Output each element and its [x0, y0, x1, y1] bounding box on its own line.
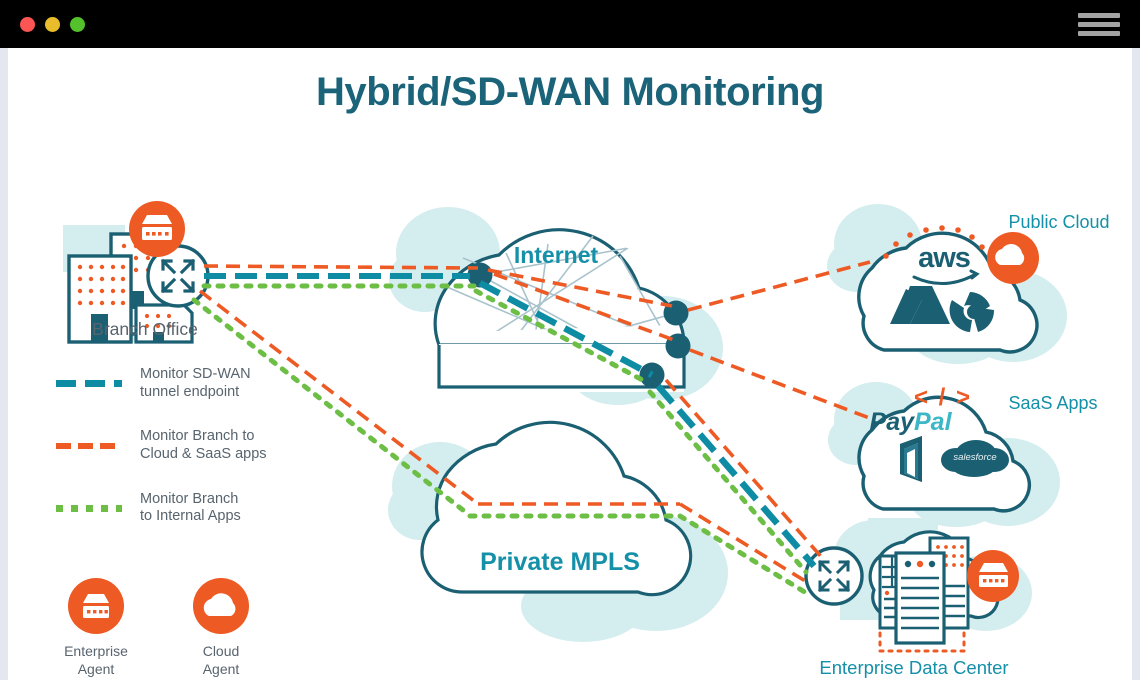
salesforce-wordmark: salesforce	[953, 452, 996, 463]
branch-office-label: Branch Office	[92, 319, 198, 339]
hamburger-menu-icon[interactable]	[1078, 13, 1120, 36]
agent-key-enterprise: Enterprise Agent	[60, 578, 132, 678]
private-mpls-label: Private MPLS	[480, 548, 640, 576]
path-orange-internet-saas	[690, 350, 872, 419]
hamburger-bar	[1078, 22, 1120, 27]
scrollbar-track[interactable]	[1132, 48, 1140, 680]
agent-key-label: Cloud Agent	[185, 643, 257, 678]
enterprise-agent-icon	[68, 578, 124, 634]
traffic-light-buttons	[20, 17, 85, 32]
agent-label-line-1: Enterprise	[64, 643, 128, 659]
maximize-button-icon[interactable]	[70, 17, 85, 32]
branch-office-group[interactable]: Branch Office	[63, 201, 208, 342]
window-titlebar	[0, 0, 1140, 48]
aws-logo-text: aws	[918, 242, 970, 274]
enterprise-agent-icon	[142, 215, 172, 240]
agent-key-cloud: Cloud Agent	[185, 578, 257, 678]
legend-line-1: Monitor Branch to	[140, 428, 254, 444]
hamburger-bar	[1078, 13, 1120, 18]
legend-item: Monitor Branch to Cloud & SaaS apps	[56, 428, 316, 463]
minimize-button-icon[interactable]	[45, 17, 60, 32]
legend-line-2: to Internal Apps	[140, 508, 241, 524]
path-orange-branch-internet	[204, 266, 478, 268]
legend-label: Monitor SD-WAN tunnel endpoint	[140, 366, 251, 401]
enterprise-agent-icon	[979, 563, 1008, 587]
paypal-logo-pal: Pal	[914, 408, 953, 436]
sdwan-router-icon[interactable]	[806, 548, 862, 604]
left-gutter	[0, 48, 8, 680]
internet-label: Internet	[514, 242, 599, 268]
legend-item: Monitor Branch to Internal Apps	[56, 491, 316, 526]
legend-line-1: Monitor SD-WAN	[140, 366, 251, 382]
legend-line-1: Monitor Branch	[140, 491, 238, 507]
agent-label-line-2: Agent	[78, 661, 115, 677]
legend-label: Monitor Branch to Cloud & SaaS apps	[140, 428, 267, 463]
agent-key-label: Enterprise Agent	[60, 643, 132, 678]
paypal-logo-pay: Pay	[870, 408, 916, 436]
data-center-label: Enterprise Data Center	[819, 657, 1008, 678]
legend-line-2: tunnel endpoint	[140, 384, 239, 400]
data-center-group[interactable]: Enterprise Data Center	[806, 532, 1019, 678]
legend: Monitor SD-WAN tunnel endpoint Monitor B…	[56, 366, 316, 553]
app-window: Hybrid/SD-WAN Monitoring	[0, 0, 1140, 680]
agent-label-line-2: Agent	[203, 661, 240, 677]
agent-key: Enterprise Agent Cloud Agent	[60, 578, 257, 678]
public-cloud-label: Public Cloud	[1008, 212, 1109, 232]
page-canvas: Hybrid/SD-WAN Monitoring	[8, 48, 1132, 680]
legend-item: Monitor SD-WAN tunnel endpoint	[56, 366, 316, 401]
legend-label: Monitor Branch to Internal Apps	[140, 491, 241, 526]
rack-leds	[905, 561, 935, 567]
legend-line-2: Cloud & SaaS apps	[140, 446, 267, 462]
hamburger-bar	[1078, 31, 1120, 36]
legend-swatch-dotted-green	[56, 505, 122, 512]
legend-swatch-dashed-orange	[56, 443, 122, 449]
close-button-icon[interactable]	[20, 17, 35, 32]
office-logo-icon	[900, 436, 922, 482]
cloud-agent-icon	[193, 578, 249, 634]
code-glyph: < / >	[914, 384, 972, 411]
saas-apps-label: SaaS Apps	[1008, 393, 1097, 413]
legend-swatch-dashed-teal	[56, 380, 122, 387]
agent-label-line-1: Cloud	[203, 643, 240, 659]
